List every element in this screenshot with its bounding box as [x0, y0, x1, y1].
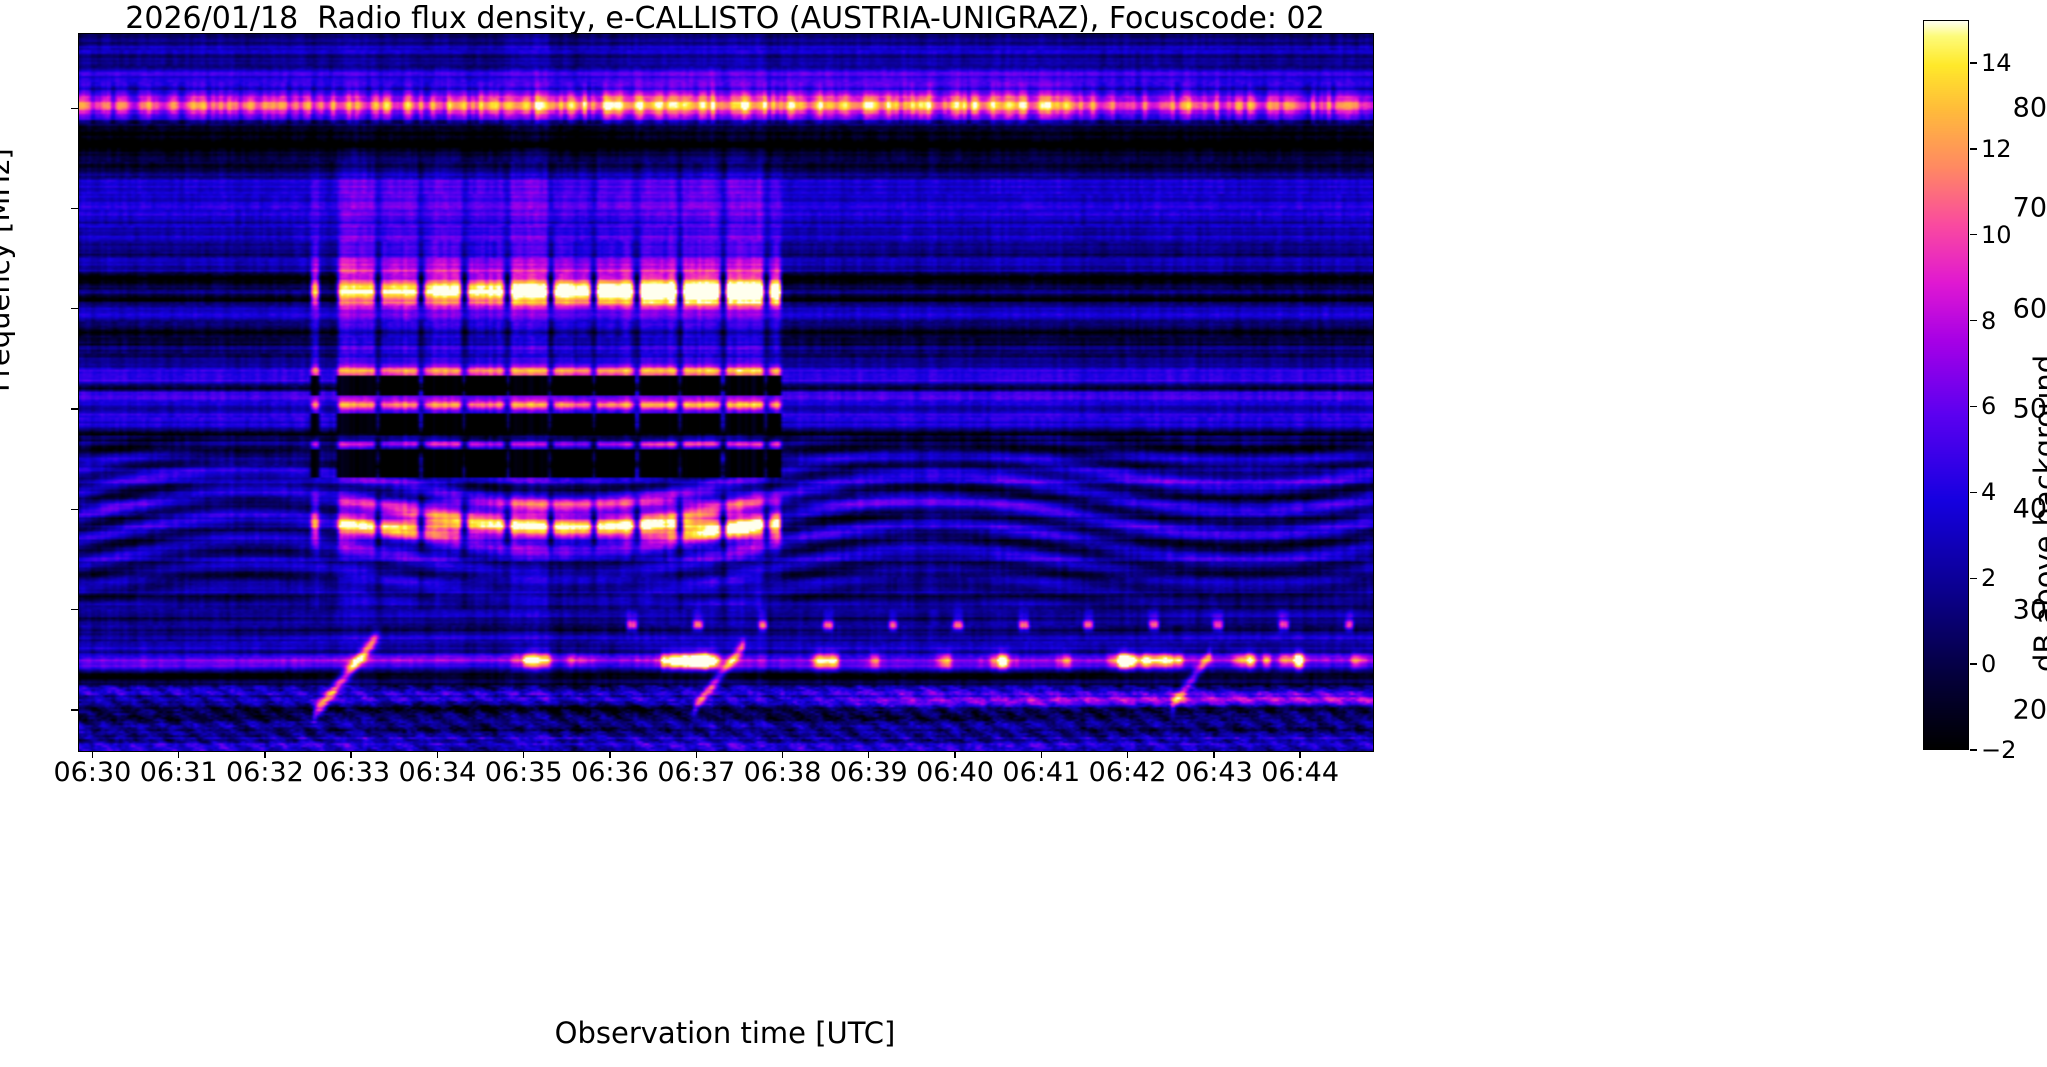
y-tick-mark	[71, 509, 78, 510]
colorbar-tick-mark	[1970, 62, 1977, 63]
colorbar-tick-label: 10	[1981, 221, 2012, 249]
x-tick-mark	[609, 751, 610, 758]
colorbar-tick-label: 0	[1981, 650, 1996, 678]
colorbar-tick-mark	[1970, 234, 1977, 235]
y-axis-label: Frequency [MHz]	[0, 148, 16, 392]
colorbar: −202468101214	[1923, 20, 1969, 750]
x-tick-mark	[868, 751, 869, 758]
colorbar-tick-label: 12	[1981, 135, 2012, 163]
colorbar-tick-label: 4	[1981, 478, 1996, 506]
x-tick-label: 06:38	[744, 757, 822, 788]
y-tick-mark	[71, 709, 78, 710]
spectrogram-canvas	[79, 34, 1373, 751]
colorbar-tick-mark	[1970, 578, 1977, 579]
colorbar-tick-label: 6	[1981, 392, 1996, 420]
page-title: 2026/01/18 Radio flux density, e-CALLIST…	[78, 2, 1372, 36]
x-tick-mark	[1127, 751, 1128, 758]
x-tick-label: 06:33	[312, 757, 390, 788]
x-tick-label: 06:42	[1089, 757, 1167, 788]
x-tick-label: 06:30	[53, 757, 131, 788]
x-tick-mark	[1213, 751, 1214, 758]
spectrogram-plot-area	[78, 33, 1374, 752]
y-tick-mark	[71, 408, 78, 409]
colorbar-tick-mark	[1970, 148, 1977, 149]
x-tick-mark	[696, 751, 697, 758]
y-tick-mark	[71, 108, 78, 109]
x-tick-label: 06:41	[1002, 757, 1080, 788]
colorbar-tick-label: 2	[1981, 564, 1996, 592]
x-tick-mark	[178, 751, 179, 758]
x-tick-label: 06:34	[399, 757, 477, 788]
x-tick-label: 06:31	[140, 757, 218, 788]
colorbar-tick-mark	[1970, 749, 1977, 750]
colorbar-gradient	[1923, 20, 1969, 750]
x-tick-label: 06:40	[916, 757, 994, 788]
x-tick-mark	[350, 751, 351, 758]
colorbar-tick-mark	[1970, 663, 1977, 664]
x-tick-label: 06:36	[571, 757, 649, 788]
spectrogram-figure: 2026/01/18 Radio flux density, e-CALLIST…	[0, 0, 2047, 1067]
x-tick-mark	[1041, 751, 1042, 758]
colorbar-canvas	[1924, 21, 1968, 749]
x-tick-mark	[437, 751, 438, 758]
x-tick-label: 06:43	[1175, 757, 1253, 788]
y-tick-label: 80	[1983, 93, 2047, 124]
x-tick-label: 06:35	[485, 757, 563, 788]
x-tick-mark	[264, 751, 265, 758]
colorbar-tick-mark	[1970, 406, 1977, 407]
colorbar-label: dB above background	[2028, 355, 2047, 672]
colorbar-tick-label: −2	[1981, 736, 2016, 764]
colorbar-tick-label: 8	[1981, 307, 1996, 335]
x-tick-label: 06:37	[657, 757, 735, 788]
y-tick-label: 70	[1983, 193, 2047, 224]
y-tick-label: 20	[1983, 694, 2047, 725]
colorbar-tick-mark	[1970, 320, 1977, 321]
y-tick-mark	[71, 208, 78, 209]
x-tick-mark	[782, 751, 783, 758]
x-tick-label: 06:32	[226, 757, 304, 788]
colorbar-tick-label: 14	[1981, 49, 2012, 77]
x-tick-mark	[1299, 751, 1300, 758]
x-tick-mark	[954, 751, 955, 758]
x-tick-mark	[523, 751, 524, 758]
x-tick-label: 06:44	[1261, 757, 1339, 788]
colorbar-tick-mark	[1970, 492, 1977, 493]
y-tick-mark	[71, 609, 78, 610]
x-axis-label: Observation time [UTC]	[78, 1016, 1372, 1050]
x-tick-mark	[92, 751, 93, 758]
y-tick-mark	[71, 308, 78, 309]
x-tick-label: 06:39	[830, 757, 908, 788]
